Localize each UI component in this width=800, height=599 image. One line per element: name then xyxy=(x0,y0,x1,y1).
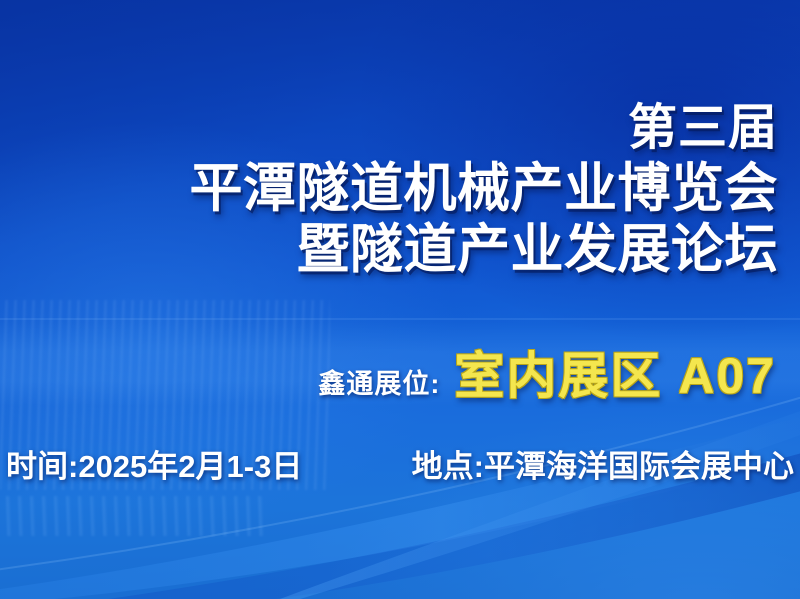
title-subtitle: 暨隧道产业发展论坛 xyxy=(190,223,779,276)
event-venue: 地点:平潭海洋国际会展中心 xyxy=(412,441,794,486)
booth-row: 鑫通展位: 室内展区 A07 xyxy=(318,336,776,408)
exhibition-banner: 第三届 平潭隧道机械产业博览会 暨隧道产业发展论坛 鑫通展位: 室内展区 A07… xyxy=(0,0,800,599)
title-kicker: 第三届 xyxy=(190,104,779,153)
booth-number: 室内展区 A07 xyxy=(454,336,776,408)
meta-row: 时间:2025年2月1-3日 地点:平潭海洋国际会展中心 xyxy=(6,441,794,486)
banner-text-layer: 第三届 平潭隧道机械产业博览会 暨隧道产业发展论坛 鑫通展位: 室内展区 A07… xyxy=(0,0,800,599)
event-date: 时间:2025年2月1-3日 xyxy=(6,441,302,486)
title-main: 平潭隧道机械产业博览会 xyxy=(190,162,779,215)
booth-label: 鑫通展位: xyxy=(318,362,440,401)
title-group: 第三届 平潭隧道机械产业博览会 暨隧道产业发展论坛 xyxy=(190,104,779,276)
